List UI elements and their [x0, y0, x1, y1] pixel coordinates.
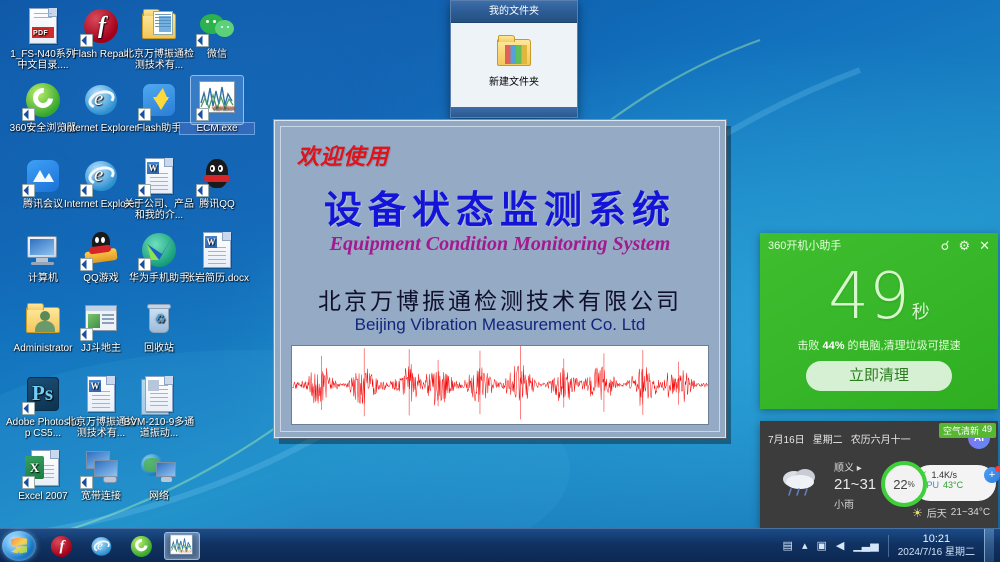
desktop-icon-label: BVM-210-9多通道振动...: [122, 417, 196, 439]
ecm-application-icon: vibration: [197, 80, 237, 120]
internet-explorer-taskbar[interactable]: e: [84, 532, 120, 560]
tray-divider: [888, 535, 889, 557]
qq-game-icon: [81, 230, 121, 270]
ie-icon: e: [89, 534, 115, 558]
flash-repair-icon: f: [81, 6, 121, 46]
net-speed-value: 1.4K/s: [932, 470, 958, 480]
weather-city: 顺义 ▸: [834, 459, 876, 474]
start-button[interactable]: [2, 531, 36, 561]
shortcut-arrow-icon: [138, 184, 151, 197]
desktop-icon[interactable]: 微信: [180, 6, 254, 60]
shortcut-arrow-icon: [196, 184, 209, 197]
360-browser-icon: [23, 80, 63, 120]
explorer-item-label: 新建文件夹: [489, 77, 539, 88]
show-desktop-button[interactable]: [984, 529, 994, 562]
forecast-temp: 21~34°C: [951, 507, 990, 518]
widget-subtitle: 击败 44% 的电脑,清理垃圾可提速: [760, 337, 998, 353]
desktop-icon[interactable]: 腾讯QQ: [180, 156, 254, 210]
jj-landlord-icon: [81, 300, 121, 340]
cpu-usage-value: 22: [893, 477, 907, 492]
flash-assistant-icon: [139, 80, 179, 120]
splash-window[interactable]: 欢迎使用 设备状态监测系统 Equipment Condition Monito…: [274, 120, 726, 438]
excel-icon: X: [23, 448, 63, 488]
explorer-bottom-strip: [451, 107, 577, 117]
shortcut-arrow-icon: [80, 258, 93, 271]
tencent-qq-icon: [197, 156, 237, 196]
computer-icon: [23, 230, 63, 270]
taskbar-buttons: f e vibration: [44, 532, 200, 560]
tray-network-icon[interactable]: ▁▃▅: [853, 539, 878, 552]
pdf-document-icon: PDF: [23, 6, 63, 46]
tencent-meeting-icon: [23, 156, 63, 196]
internet-explorer-icon: e: [81, 156, 121, 196]
cpu-usage-unit: %: [908, 480, 915, 489]
desktop-icon[interactable]: ♻回收站: [122, 300, 196, 354]
shortcut-arrow-icon: [196, 108, 209, 121]
shortcut-arrow-icon: [80, 476, 93, 489]
clean-now-button[interactable]: 立即清理: [806, 361, 952, 391]
rain-cloud-icon: [778, 465, 824, 497]
weather-condition: 小雨: [834, 496, 876, 511]
shortcut-arrow-icon: [138, 258, 151, 271]
widget-titlebar: 360开机小助手 ☌ ⚙ ✕: [760, 233, 998, 257]
waveform-plot: [292, 346, 708, 424]
folder-icon: [139, 6, 179, 46]
desktop-icon[interactable]: W张岩简历.docx: [180, 230, 254, 284]
network-icon: [139, 448, 179, 488]
desktop-icon[interactable]: vibration ECM.exe: [180, 80, 254, 134]
weather-lunar: 农历六月十一: [851, 431, 911, 446]
shortcut-arrow-icon: [22, 184, 35, 197]
sun-icon: ☀: [912, 506, 923, 520]
weather-date: 7月16日: [768, 431, 805, 446]
flash-player-taskbar[interactable]: f: [44, 532, 80, 560]
shortcut-arrow-icon: [80, 34, 93, 47]
shortcut-arrow-icon: [22, 402, 35, 415]
tray-show-hidden-icon[interactable]: ▴: [802, 539, 808, 552]
desktop-icon-label: 腾讯QQ: [180, 199, 254, 210]
desktop-icon[interactable]: 网络: [122, 448, 196, 502]
cpu-usage-ring[interactable]: 22%: [881, 461, 927, 507]
tray-security-icon[interactable]: ▣: [816, 539, 826, 552]
internet-explorer-icon: e: [81, 80, 121, 120]
desktop-icon-label: 网络: [122, 491, 196, 502]
close-icon[interactable]: ✕: [979, 239, 990, 252]
trash-icon[interactable]: ☌: [941, 239, 950, 252]
clock-date: 2024/7/16 星期二: [898, 546, 975, 559]
broadband-connection-icon: [81, 448, 121, 488]
weather-weekday: 星期二: [813, 431, 843, 446]
svg-text:vibration: vibration: [212, 106, 235, 112]
document-icon: [139, 374, 179, 414]
weather-performance-widget[interactable]: 7月16日 星期二 农历六月十一 AI 空气清新 49 顺义 ▸ 21~31 小…: [760, 421, 998, 529]
wechat-icon: [197, 6, 237, 46]
shortcut-arrow-icon: [138, 108, 151, 121]
air-quality-badge: 空气清新 49: [939, 423, 996, 438]
app-title-english: Equipment Condition Monitoring System: [281, 233, 719, 256]
welcome-text: 欢迎使用: [297, 139, 389, 171]
shortcut-arrow-icon: [22, 476, 35, 489]
weather-text-block: 顺义 ▸ 21~31 小雨: [834, 459, 876, 511]
air-quality-label: 空气清新: [943, 424, 979, 437]
boot-time-value: 49秒: [760, 265, 998, 345]
system-tray: ▤▴▣◀▁▃▅ 10:21 2024/7/16 星期二: [783, 529, 1000, 562]
user-folder-icon: [23, 300, 63, 340]
360-boot-assistant-widget[interactable]: 360开机小助手 ☌ ⚙ ✕ 49秒 击败 44% 的电脑,清理垃圾可提速 立即…: [760, 233, 998, 409]
huawei-assistant-icon: [139, 230, 179, 270]
company-name-chinese: 北京万博振通检测技术有限公司: [281, 282, 719, 316]
cpu-temp-value: 43°C: [943, 480, 963, 490]
beat-percent: 44%: [822, 340, 844, 352]
desktop-icon-label: 微信: [180, 49, 254, 60]
desktop-icon[interactable]: BVM-210-9多通道振动...: [122, 374, 196, 439]
shortcut-arrow-icon: [80, 328, 93, 341]
360-browser-taskbar[interactable]: [124, 532, 160, 560]
svg-text:vibration: vibration: [178, 549, 192, 553]
explorer-window[interactable]: 我的文件夹 新建文件夹: [450, 0, 578, 118]
tray-media-icon[interactable]: ▤: [783, 539, 793, 552]
folder-icon: [494, 35, 534, 71]
explorer-title: 我的文件夹: [451, 1, 577, 23]
company-name-english: Beijing Vibration Measurement Co. Ltd: [281, 315, 719, 335]
explorer-folder-item[interactable]: 新建文件夹: [457, 35, 571, 88]
360-browser-icon: [129, 534, 155, 558]
taskbar-clock[interactable]: 10:21 2024/7/16 星期二: [898, 533, 975, 559]
tray-volume-icon[interactable]: ◀: [836, 539, 844, 552]
ecm-icon: vibration: [169, 534, 195, 558]
desktop-icon-label: 张岩简历.docx: [180, 273, 254, 284]
shortcut-arrow-icon: [80, 184, 93, 197]
word-document-icon: W: [197, 230, 237, 270]
app-title-chinese: 设备状态监测系统: [281, 179, 719, 234]
ecm-taskbar[interactable]: vibration: [164, 532, 200, 560]
clock-time: 10:21: [898, 533, 975, 546]
shortcut-arrow-icon: [196, 34, 209, 47]
desktop-icon-label: 回收站: [122, 343, 196, 354]
desktop-icon-label: ECM.exe: [180, 123, 254, 134]
forecast-label: 后天: [927, 505, 947, 520]
vibration-waveform-panel: [291, 345, 709, 425]
taskbar[interactable]: f e vibration ▤▴▣◀▁▃▅ 10:21 2024/7/16 星期…: [0, 528, 1000, 562]
widget-title: 360开机小助手: [768, 237, 941, 253]
recycle-bin-icon: ♻: [139, 300, 179, 340]
weather-temp-range: 21~31: [834, 476, 876, 493]
air-quality-value: 49: [982, 424, 992, 437]
gear-icon[interactable]: ⚙: [958, 239, 970, 252]
word-document-icon: W: [81, 374, 121, 414]
word-document-icon: W: [139, 156, 179, 196]
photoshop-icon: Ps: [23, 374, 63, 414]
flash-icon: f: [49, 534, 75, 558]
weather-forecast: ☀ 后天 21~34°C: [912, 505, 990, 520]
splash-content: 欢迎使用 设备状态监测系统 Equipment Condition Monito…: [280, 126, 720, 432]
add-widget-button[interactable]: +: [984, 467, 1000, 483]
shortcut-arrow-icon: [22, 108, 35, 121]
boot-time-unit: 秒: [912, 302, 930, 323]
